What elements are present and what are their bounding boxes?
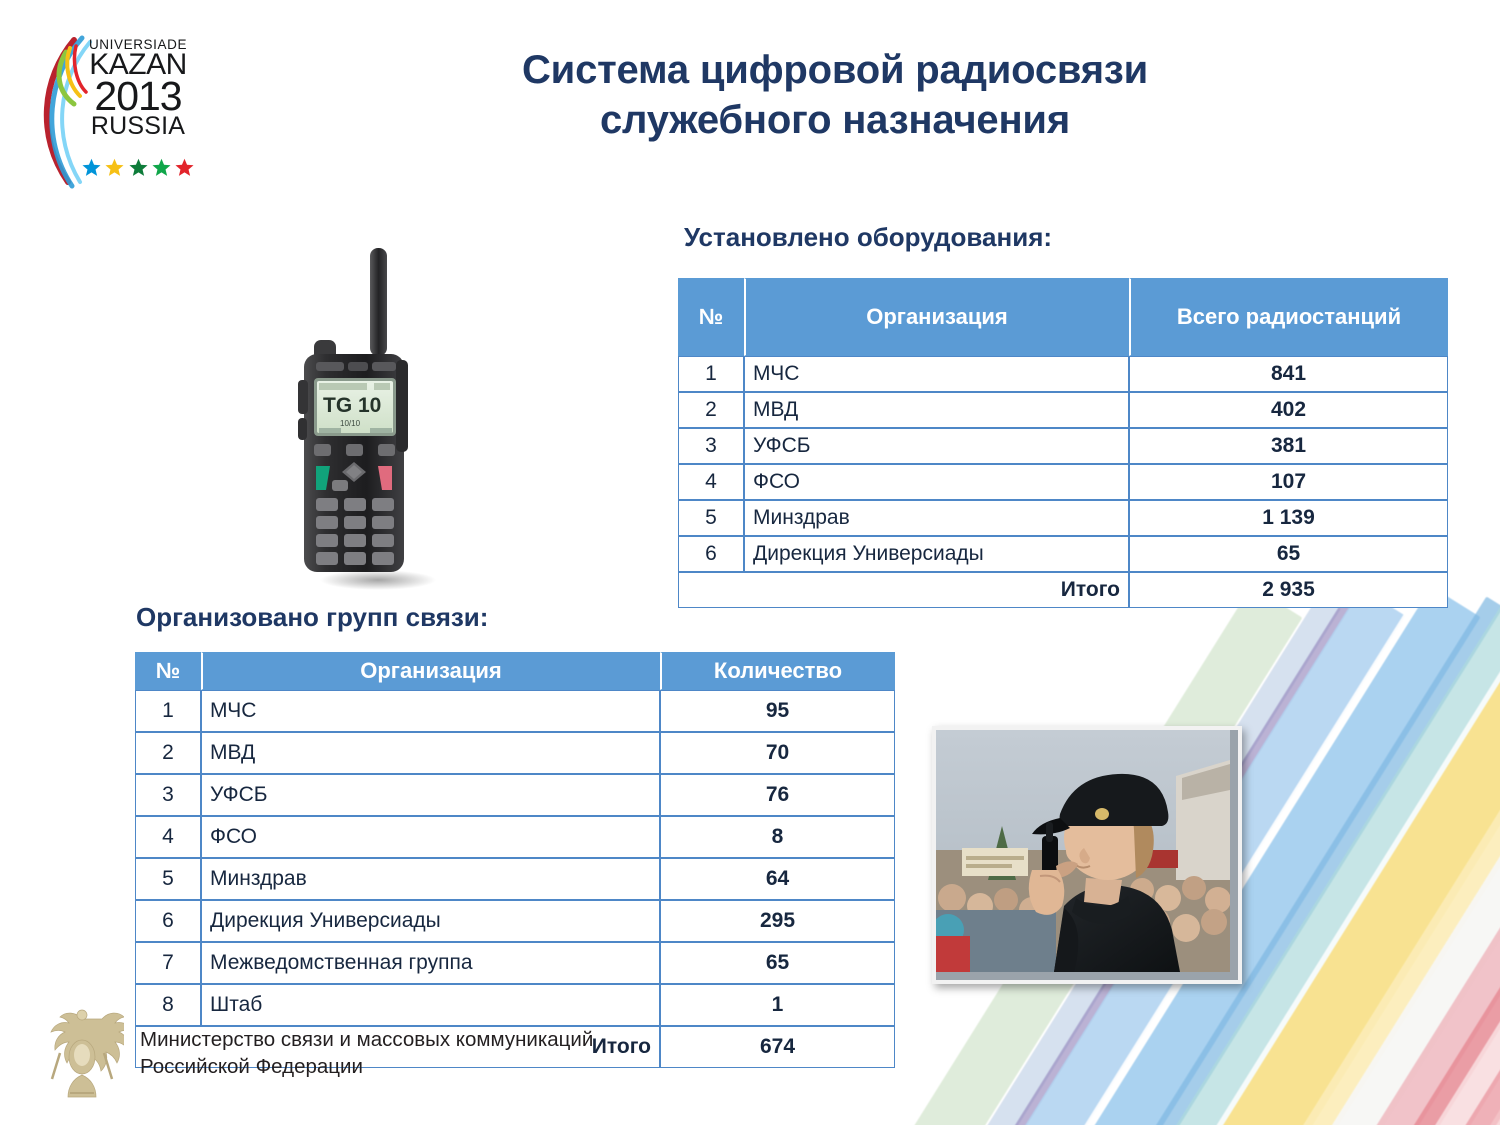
ribbon-stripe <box>1347 591 1500 1125</box>
cell-value: 65 <box>1129 536 1448 572</box>
cell-value: 1 139 <box>1129 500 1448 536</box>
cell-organization: УФСБ <box>201 774 660 816</box>
cell-number: 6 <box>135 900 201 942</box>
cell-organization: Минздрав <box>201 858 660 900</box>
groups-heading: Организовано групп связи: <box>136 602 488 633</box>
table-row: 4 ФСО 8 <box>135 816 895 858</box>
table-row: 7 Межведомственная группа 65 <box>135 942 895 984</box>
ministry-line1: Министерство связи и массовых коммуникац… <box>140 1027 593 1054</box>
cell-organization: Межведомственная группа <box>201 942 660 984</box>
cell-number: 3 <box>135 774 201 816</box>
cell-value: 402 <box>1129 392 1448 428</box>
ministry-footer: Министерство связи и массовых коммуникац… <box>40 1005 593 1101</box>
equipment-table: № Организация Всего радиостанций 1 МЧС 8… <box>678 278 1448 608</box>
logo-line-year: 2013 <box>82 76 194 117</box>
cell-number: 1 <box>678 356 744 392</box>
universiade-logo: UNIVERSIADE KAZAN 2013 RUSSIA <box>30 32 195 194</box>
slide-title-line2: служебного назначения <box>395 95 1275 145</box>
column-header-organization: Организация <box>201 652 660 690</box>
cell-organization: ФСО <box>744 464 1129 500</box>
cell-value: 1 <box>660 984 895 1026</box>
column-header-organization: Организация <box>744 278 1129 356</box>
star-icon <box>152 158 171 177</box>
cell-value: 8 <box>660 816 895 858</box>
cell-number: 7 <box>135 942 201 984</box>
ribbon-stripe <box>1290 594 1500 1125</box>
cell-organization: ФСО <box>201 816 660 858</box>
table-row: 4 ФСО 107 <box>678 464 1448 500</box>
column-header-quantity: Количество <box>660 652 895 690</box>
cell-number: 2 <box>135 732 201 774</box>
cell-value: 76 <box>660 774 895 816</box>
equipment-heading: Установлено оборудования: <box>684 222 1052 253</box>
table-total-row: Итого 2 935 <box>678 572 1448 608</box>
table-row: 1 МЧС 95 <box>135 690 895 732</box>
slide-title: Система цифровой радиосвязи служебного н… <box>395 45 1275 146</box>
logo-stars <box>82 158 194 177</box>
table-row: 2 МВД 402 <box>678 392 1448 428</box>
cell-organization: МЧС <box>744 356 1129 392</box>
svg-text:10/10: 10/10 <box>340 419 361 428</box>
star-icon <box>129 158 148 177</box>
cell-number: 1 <box>135 690 201 732</box>
column-header-total-radios: Всего радиостанций <box>1129 278 1448 356</box>
table-row: 3 УФСБ 76 <box>135 774 895 816</box>
cell-value: 841 <box>1129 356 1448 392</box>
ministry-line2: Российской Федерации <box>140 1054 593 1081</box>
cell-value: 64 <box>660 858 895 900</box>
cell-number: 5 <box>135 858 201 900</box>
total-label: Итого <box>678 572 1129 608</box>
cell-value: 381 <box>1129 428 1448 464</box>
cell-organization: УФСБ <box>744 428 1129 464</box>
slide-title-line1: Система цифровой радиосвязи <box>395 45 1275 95</box>
cell-organization: МЧС <box>201 690 660 732</box>
table-row: 1 МЧС 841 <box>678 356 1448 392</box>
radio-handset-icon: TG 10 10/10 <box>286 232 476 590</box>
ministry-text: Министерство связи и массовых коммуникац… <box>140 1027 593 1080</box>
officer-photo-image <box>936 730 1230 972</box>
cell-number: 5 <box>678 500 744 536</box>
logo-line-russia: RUSSIA <box>82 114 194 139</box>
table-header-row: № Организация Количество <box>135 652 895 690</box>
total-value: 674 <box>660 1026 895 1068</box>
ribbon-stripe <box>1320 595 1500 1125</box>
cell-organization: МВД <box>201 732 660 774</box>
table-row: 2 МВД 70 <box>135 732 895 774</box>
slide-root: UNIVERSIADE KAZAN 2013 RUSSIA Система ци… <box>0 0 1500 1125</box>
logo-text-block: UNIVERSIADE KAZAN 2013 RUSSIA <box>82 38 194 139</box>
table-row: 5 Минздрав 64 <box>135 858 895 900</box>
cell-number: 2 <box>678 392 744 428</box>
cell-organization: Дирекция Универсиады <box>744 536 1129 572</box>
cell-value: 65 <box>660 942 895 984</box>
cell-number: 4 <box>678 464 744 500</box>
cell-organization: МВД <box>744 392 1129 428</box>
star-icon <box>105 158 124 177</box>
star-icon <box>175 158 194 177</box>
ribbon-stripe <box>1233 592 1500 1125</box>
cell-organization: Дирекция Универсиады <box>201 900 660 942</box>
cell-organization: Минздрав <box>744 500 1129 536</box>
officer-photo <box>932 726 1242 984</box>
column-header-number: № <box>678 278 744 356</box>
cell-number: 4 <box>135 816 201 858</box>
column-header-number: № <box>135 652 201 690</box>
ribbon-stripe <box>1268 596 1500 1125</box>
cell-number: 6 <box>678 536 744 572</box>
russian-coat-of-arms-icon <box>40 1005 124 1101</box>
table-row: 6 Дирекция Универсиады 65 <box>678 536 1448 572</box>
cell-value: 70 <box>660 732 895 774</box>
cell-value: 107 <box>1129 464 1448 500</box>
cell-value: 95 <box>660 690 895 732</box>
radio-handset-photo: TG 10 10/10 <box>286 232 476 590</box>
total-value: 2 935 <box>1129 572 1448 608</box>
star-icon <box>82 158 101 177</box>
cell-value: 295 <box>660 900 895 942</box>
svg-text:TG 10: TG 10 <box>323 394 381 417</box>
cell-number: 3 <box>678 428 744 464</box>
table-row: 6 Дирекция Универсиады 295 <box>135 900 895 942</box>
table-row: 3 УФСБ 381 <box>678 428 1448 464</box>
table-row: 5 Минздрав 1 139 <box>678 500 1448 536</box>
table-header-row: № Организация Всего радиостанций <box>678 278 1448 356</box>
